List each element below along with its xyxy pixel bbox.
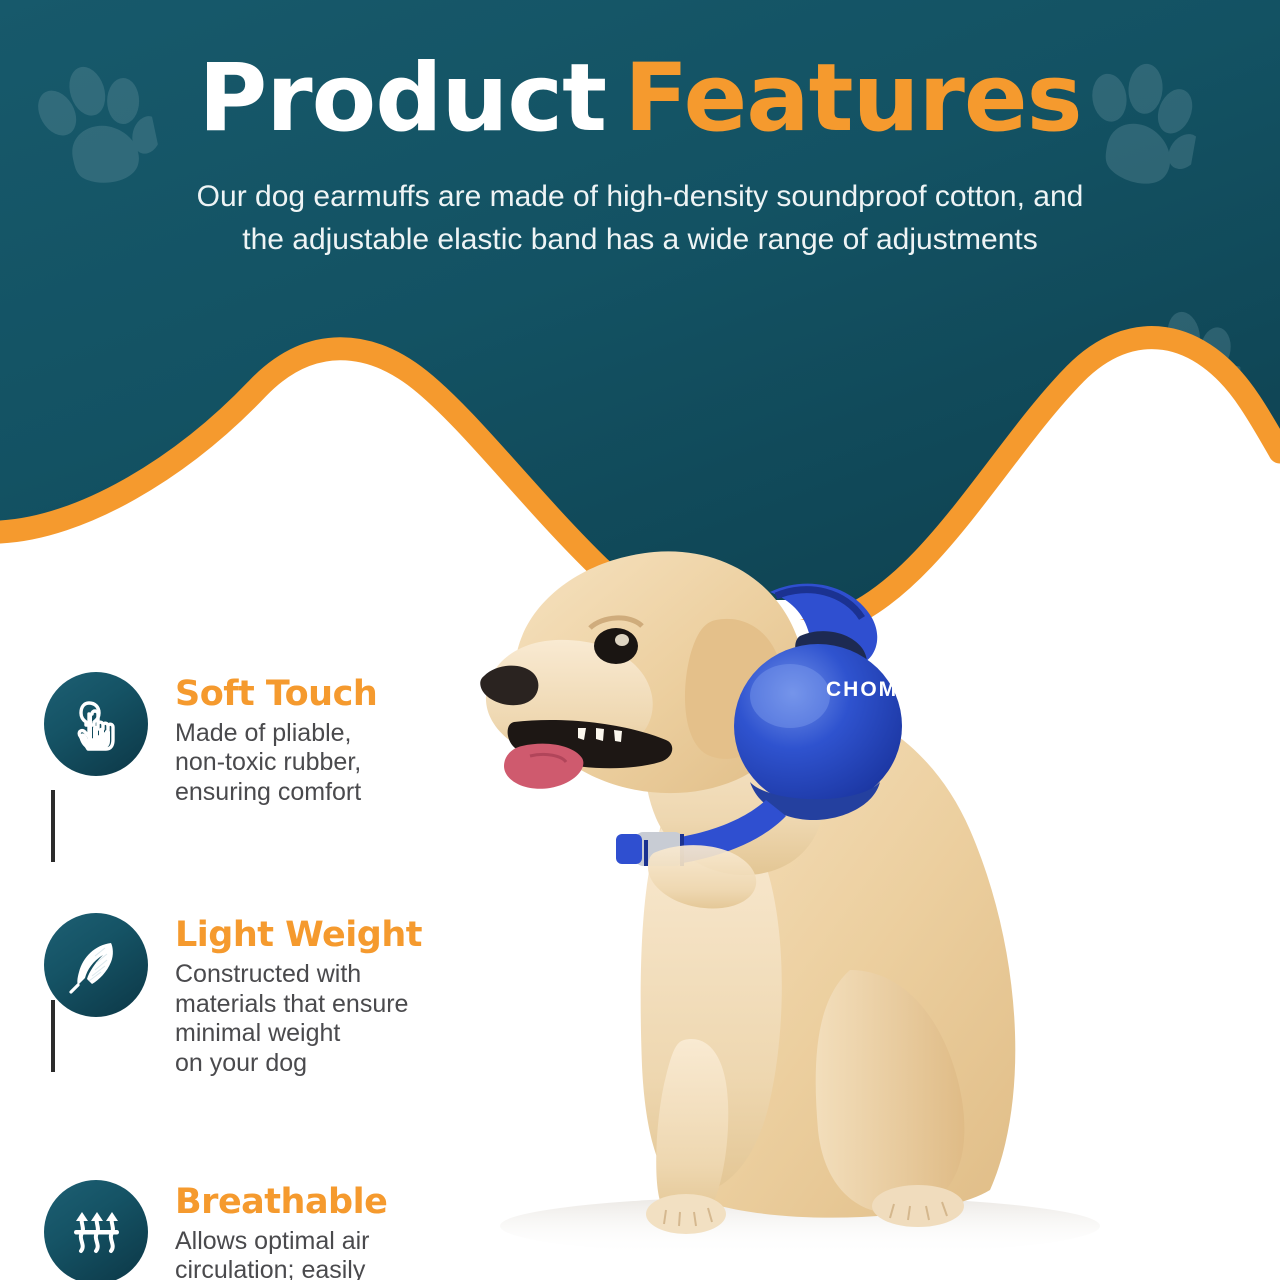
feature-description-line: materials that ensure [175, 990, 422, 1020]
product-features-infographic: ProductFeatures Our dog earmuffs are mad… [0, 0, 1280, 1280]
feature-description: Constructed with materials that ensure m… [175, 960, 422, 1078]
feature-item-light-weight: Light Weight Constructed with materials … [44, 913, 564, 1078]
page-subtitle-line-1: Our dog earmuffs are made of high-densit… [60, 176, 1220, 219]
paw-print-icon [1124, 300, 1244, 430]
page-title: ProductFeatures [0, 50, 1280, 149]
page-subtitle: Our dog earmuffs are made of high-densit… [60, 176, 1220, 261]
feature-text-block: Soft Touch Made of pliable, non-toxic ru… [148, 672, 377, 807]
feature-description-line: on your dog [175, 1049, 422, 1079]
page-title-accent: Features [624, 44, 1082, 153]
feature-description-line: ensuring comfort [175, 778, 377, 808]
airflow-icon [44, 1180, 148, 1280]
feature-text-block: Light Weight Constructed with materials … [148, 913, 422, 1078]
feature-item-soft-touch: Soft Touch Made of pliable, non-toxic ru… [44, 672, 564, 807]
hand-tap-icon [44, 672, 148, 776]
feature-connector-line [51, 1000, 55, 1072]
feather-icon [44, 913, 148, 1017]
feature-connector-line [51, 790, 55, 862]
page-title-primary: Product [198, 44, 606, 153]
feature-description-line: Constructed with [175, 960, 422, 990]
feature-description-line: Allows optimal air [175, 1227, 387, 1257]
feature-description-line: minimal weight [175, 1019, 422, 1049]
feature-list: Soft Touch Made of pliable, non-toxic ru… [44, 672, 564, 1280]
feature-description: Allows optimal air circulation; easily m… [175, 1227, 387, 1280]
product-photo-dog-with-earmuffs: CHOMIN [470, 500, 1280, 1280]
product-brand-label: CHOMIN [826, 678, 923, 701]
feature-description-line: non-toxic rubber, [175, 748, 377, 778]
page-subtitle-line-2: the adjustable elastic band has a wide r… [60, 219, 1220, 262]
feature-title: Breathable [175, 1184, 387, 1221]
feature-title: Soft Touch [175, 676, 377, 713]
feature-description-line: Made of pliable, [175, 719, 377, 749]
feature-title: Light Weight [175, 917, 422, 954]
feature-description: Made of pliable, non-toxic rubber, ensur… [175, 719, 377, 808]
feature-text-block: Breathable Allows optimal air circulatio… [148, 1180, 387, 1280]
feature-description-line: circulation; easily [175, 1256, 387, 1280]
feature-item-breathable: Breathable Allows optimal air circulatio… [44, 1180, 564, 1280]
